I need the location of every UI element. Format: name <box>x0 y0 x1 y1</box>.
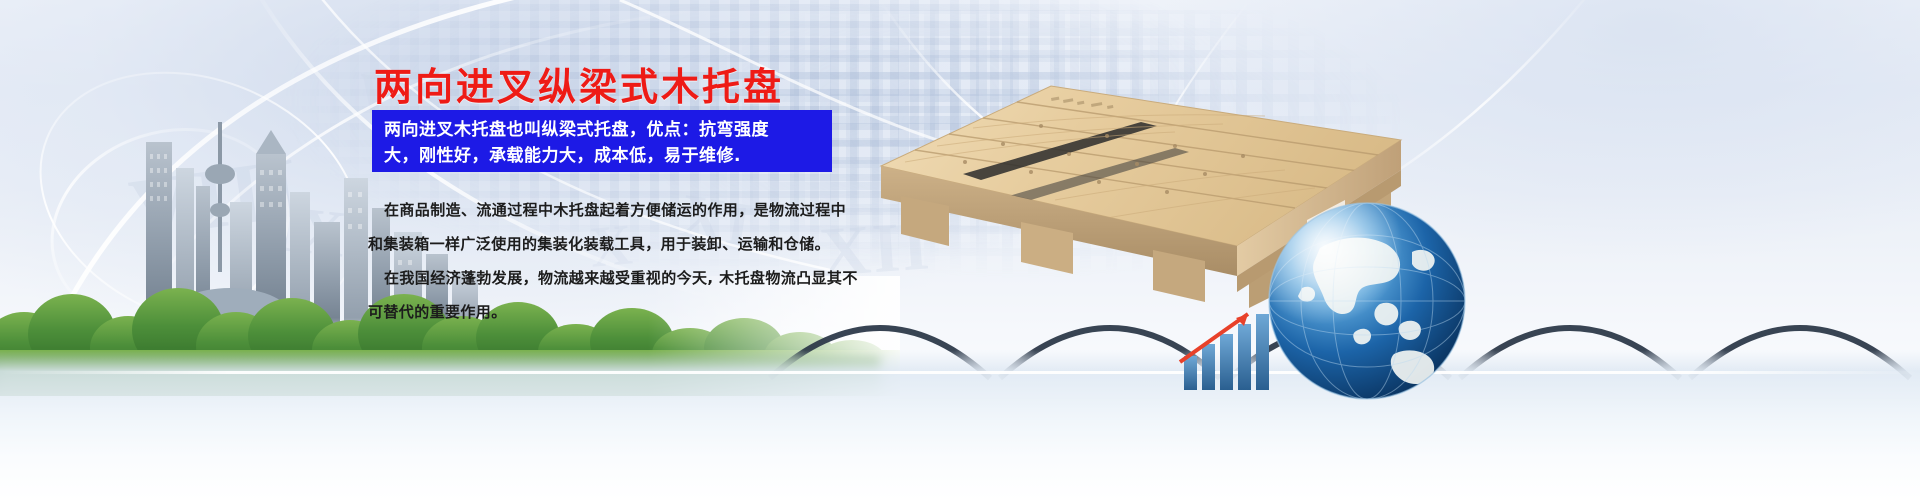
highlight-callout-box: 两向进叉木托盘也叫纵梁式托盘，优点：抗弯强度 大，刚性好，承载能力大，成本低，易… <box>372 110 832 172</box>
description-paragraph: 在商品制造、流通过程中木托盘起着方便储运的作用，是物流过程中 和集装箱一样广泛使… <box>368 196 848 332</box>
highlight-line-2: 大，刚性好，承载能力大，成本低，易于维修. <box>384 143 822 169</box>
description-line-4: 可替代的重要作用。 <box>368 298 848 326</box>
highlight-line-1: 两向进叉木托盘也叫纵梁式托盘，优点：抗弯强度 <box>384 117 822 143</box>
description-line-2: 和集装箱一样广泛使用的集装化装载工具，用于装卸、运输和仓储。 <box>368 230 848 258</box>
water-horizon-line <box>0 371 1920 374</box>
description-line-1: 在商品制造、流通过程中木托盘起着方便储运的作用，是物流过程中 <box>368 196 848 224</box>
description-line-3: 在我国经济蓬勃发展，物流越来越受重视的今天, 木托盘物流凸显其不 <box>368 264 848 292</box>
page-title: 两向进叉纵梁式木托盘 <box>374 56 784 111</box>
product-banner: VIII IX X XI XII VII <box>0 0 1920 500</box>
earth-globe-graphic <box>1262 196 1472 406</box>
